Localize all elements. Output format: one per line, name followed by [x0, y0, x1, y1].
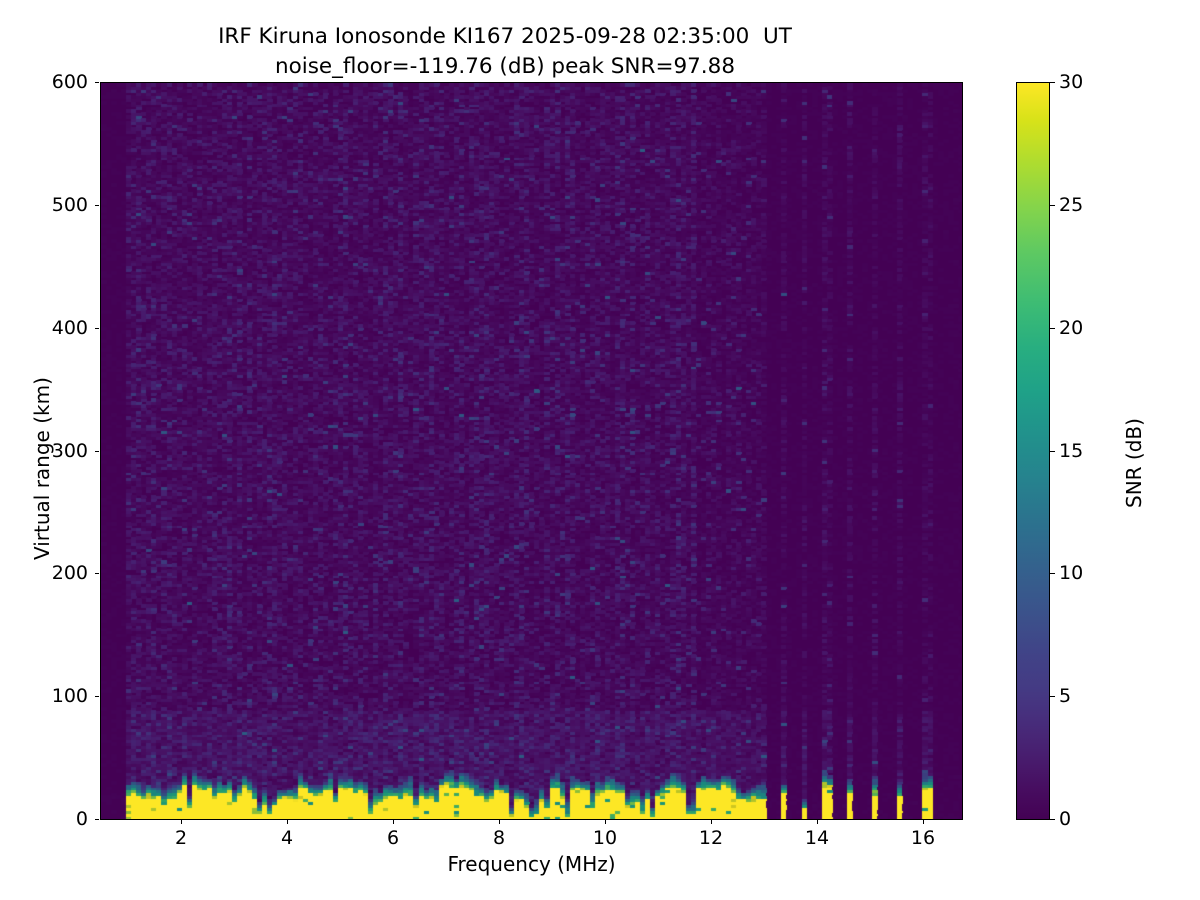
colorbar-tick-label: 15	[1059, 440, 1083, 462]
colorbar-tick-mark	[1050, 573, 1055, 574]
x-tick-label: 16	[893, 827, 953, 849]
x-tick-label: 14	[787, 827, 847, 849]
x-tick-mark	[605, 820, 606, 824]
y-tick-mark	[95, 451, 99, 452]
y-tick-label: 200	[20, 562, 88, 584]
colorbar-tick-mark	[1050, 819, 1055, 820]
x-axis-label: Frequency (MHz)	[100, 852, 963, 876]
x-tick-mark	[923, 820, 924, 824]
y-axis-label: Virtual range (km)	[30, 377, 54, 560]
x-tick-mark	[393, 820, 394, 824]
colorbar-tick-mark	[1050, 696, 1055, 697]
title-line-1: IRF Kiruna Ionosonde KI167 2025-09-28 02…	[0, 22, 1010, 52]
figure-title: IRF Kiruna Ionosonde KI167 2025-09-28 02…	[0, 22, 1010, 82]
x-tick-label: 10	[575, 827, 635, 849]
title-line-2: noise_floor=-119.76 (dB) peak SNR=97.88	[0, 52, 1010, 82]
colorbar-tick-mark	[1050, 82, 1055, 83]
colorbar-tick-label: 5	[1059, 685, 1071, 707]
x-tick-label: 6	[363, 827, 423, 849]
colorbar-tick-mark	[1050, 451, 1055, 452]
y-tick-label: 400	[20, 317, 88, 339]
y-tick-label: 100	[20, 685, 88, 707]
x-tick-mark	[287, 820, 288, 824]
x-tick-label: 8	[469, 827, 529, 849]
ionogram-plot-area	[100, 82, 963, 820]
y-tick-mark	[95, 819, 99, 820]
colorbar-tick-label: 20	[1059, 317, 1083, 339]
x-tick-label: 2	[151, 827, 211, 849]
x-tick-mark	[499, 820, 500, 824]
colorbar-tick-label: 25	[1059, 194, 1083, 216]
x-tick-mark	[817, 820, 818, 824]
x-tick-mark	[181, 820, 182, 824]
snr-colorbar	[1016, 82, 1050, 820]
y-tick-label: 0	[20, 808, 88, 830]
y-tick-mark	[95, 573, 99, 574]
y-tick-label: 500	[20, 194, 88, 216]
colorbar-tick-label: 30	[1059, 71, 1083, 93]
colorbar-tick-mark	[1050, 205, 1055, 206]
colorbar-tick-mark	[1050, 328, 1055, 329]
colorbar-tick-label: 10	[1059, 562, 1083, 584]
y-tick-mark	[95, 205, 99, 206]
y-tick-mark	[95, 82, 99, 83]
ionogram-heatmap	[101, 83, 962, 819]
colorbar-tick-label: 0	[1059, 808, 1071, 830]
y-tick-label: 600	[20, 71, 88, 93]
x-tick-label: 12	[681, 827, 741, 849]
colorbar-label: SNR (dB)	[1122, 418, 1146, 508]
figure-canvas: IRF Kiruna Ionosonde KI167 2025-09-28 02…	[0, 0, 1200, 900]
y-tick-mark	[95, 696, 99, 697]
x-tick-label: 4	[257, 827, 317, 849]
x-tick-mark	[711, 820, 712, 824]
y-tick-mark	[95, 328, 99, 329]
